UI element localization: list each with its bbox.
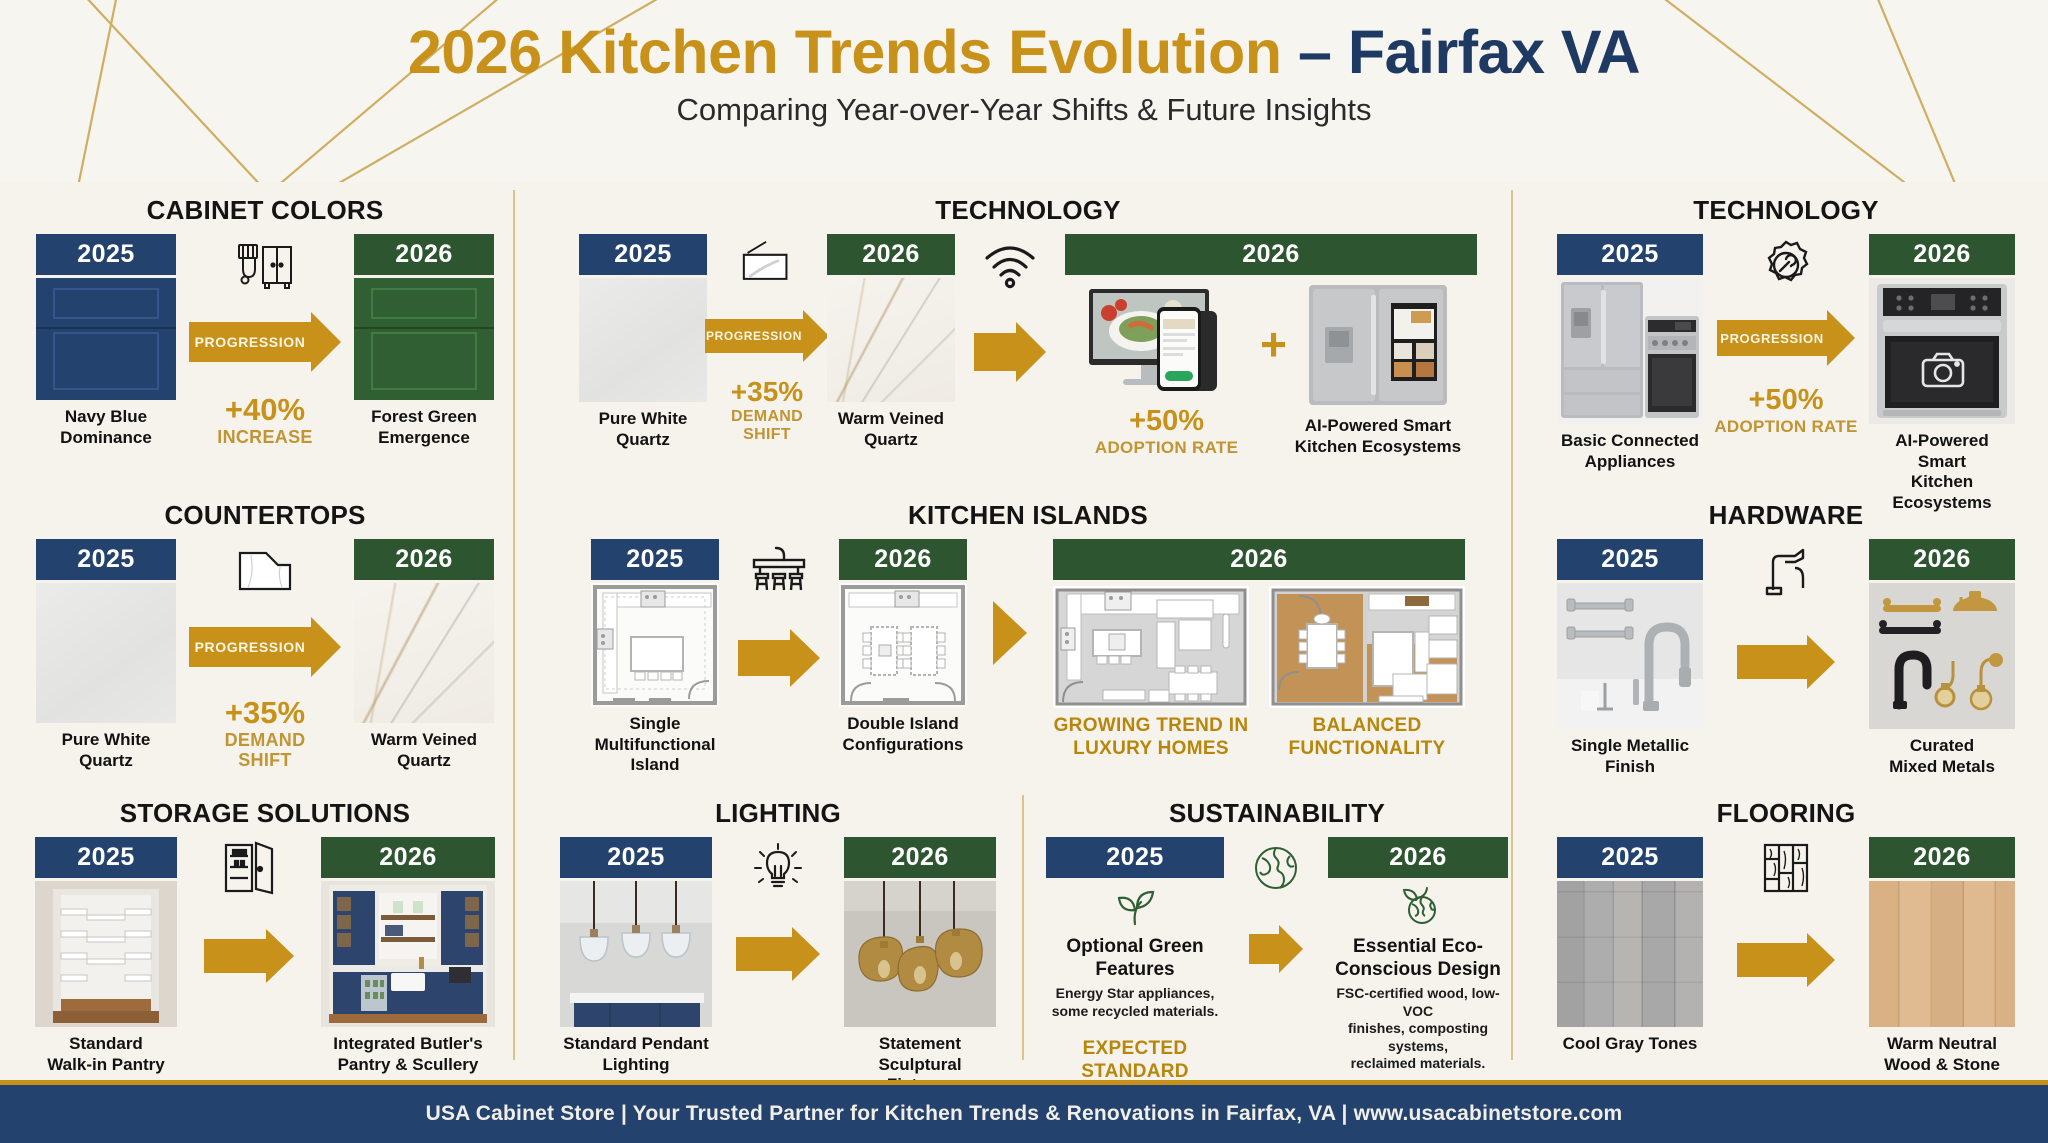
section-hardware: HARDWARE 2025 [1546,500,2026,777]
year-badge-2026: 2026 [1869,234,2015,275]
paintbrush-cabinet-icon [235,234,295,296]
tech-center-wifi-arrow [955,234,1065,382]
countertop-slab-icon [738,234,796,296]
section-technology-right: TECHNOLOGY 2025 [1546,195,2026,514]
island-2025-card: 2025 Single Multifu [591,539,719,776]
section-storage-solutions: STORAGE SOLUTIONS 2025 [30,798,500,1075]
year-badge-2026: 2026 [321,837,495,878]
section-title-countertops: COUNTERTOPS [30,500,500,531]
year-badge-2026: 2026 [1065,234,1477,275]
progression-label: PROGRESSION [195,334,306,350]
countertop-progression-group: PROGRESSION +35% DEMAND SHIFT [176,539,354,770]
caption-navy-blue: Navy Blue Dominance [60,407,152,448]
year-badge-2025: 2025 [36,234,176,275]
swatch-pure-white-quartz [36,583,176,723]
flooring-2025-card: 2025 Cool Gray Tones [1557,837,1703,1055]
heading-essential-eco: Essential Eco- Conscious Design [1335,935,1501,981]
section-title-flooring: FLOORING [1546,798,2026,829]
leaf-globe-icon [1396,886,1440,931]
globe-icon [1252,837,1300,899]
cabinet-2025-card: 2025 Navy Blue Dominance [36,234,176,448]
column-divider-left [513,190,515,1060]
year-badge-2026: 2026 [827,234,955,275]
island-stools-icon [748,539,810,601]
faucet-icon [1759,539,1813,601]
countertop-2025-card: 2025 Pure White Quartz [36,539,176,771]
image-curated-mixed-metals [1869,583,2015,729]
storage-2026-card: 2026 [321,837,495,1075]
progression-arrow-countertops: PROGRESSION [189,617,341,677]
year-badge-2025: 2025 [560,837,712,878]
progression-arrow-tech-1: PROGRESSION [705,310,829,362]
caption-warm-neutral-wood: Warm Neutral Wood & Stone [1884,1034,2000,1075]
caption-standard-pendant: Standard Pendant Lighting [563,1034,708,1075]
tech-center-2026-card: 2026 [1065,234,1477,457]
caption-butlers-pantry: Integrated Butler's Pantry & Scullery [333,1034,483,1075]
arrow-island-1 [738,629,820,687]
arrow-hardware [1737,635,1835,689]
tag-expected-standard: EXPECTED STANDARD [1081,1038,1189,1084]
stat-label-cabinet: INCREASE [217,427,312,447]
progression-label: PROGRESSION [195,639,306,655]
lighting-2025-card: 2025 [560,837,712,1075]
floorplan-single-island [591,583,719,707]
section-title-lighting: LIGHTING [548,798,1008,829]
plus-sign: + [1260,321,1287,367]
year-badge-2025: 2025 [1557,234,1703,275]
year-badge-2025: 2025 [1557,837,1703,878]
island-2026-card: 2026 [839,539,967,755]
progression-label: PROGRESSION [1720,331,1823,346]
caption-single-island: Single Multifunctional Island [595,714,716,776]
caption-cool-gray-tones: Cool Gray Tones [1563,1034,1698,1055]
body-essential-eco: FSC-certified wood, low-VOC finishes, co… [1328,985,1508,1073]
image-basic-appliances [1557,278,1703,424]
year-badge-2026: 2026 [1869,837,2015,878]
tech-center-progression-1: PROGRESSION +35% DEMAND SHIFT [707,234,827,444]
section-kitchen-islands: KITCHEN ISLANDS 2025 [548,500,1508,776]
swatch-forest-green-cabinet [354,278,494,400]
hardware-arrow-group [1703,539,1869,689]
year-badge-2026: 2026 [354,234,494,275]
caption-forest-green: Forest Green Emergence [371,407,477,448]
footer-bar: USA Cabinet Store | Your Trusted Partner… [0,1080,2048,1143]
cabinet-2026-card: 2026 Forest Green Emergence [354,234,494,448]
swatch-warm-wood-flooring [1869,881,2015,1027]
section-title-storage-solutions: STORAGE SOLUTIONS [30,798,500,829]
cabinet-progression-group: PROGRESSION +40% INCREASE [176,234,354,447]
caption-warm-veined-quartz: Warm Veined Quartz [838,409,944,450]
year-badge-2025: 2025 [36,539,176,580]
swatch-pure-white-quartz [579,278,707,402]
year-badge-2025: 2025 [35,837,177,878]
tech-center-2025-card: 2025 Pure White Quartz [579,234,707,450]
stat-cabinet: +40% INCREASE [217,394,312,447]
sustainability-2025-card: 2025 Optional Green Features Energy Star… [1046,837,1224,1084]
tech-right-progression-group: PROGRESSION +50% ADOPTION RATE [1703,234,1869,436]
page-subtitle: Comparing Year-over-Year Shifts & Future… [0,92,2048,128]
year-badge-2025: 2025 [591,539,719,580]
stat-label-countertops: DEMAND SHIFT [225,730,306,770]
stat-label-tech-1: DEMAND SHIFT [707,408,827,444]
section-sustainability: SUSTAINABILITY 2025 Optional Green Featu… [1046,798,1508,1126]
lighting-arrow-group [712,837,844,981]
image-walkin-pantry [35,881,177,1027]
section-lighting: LIGHTING 2025 [548,798,1008,1096]
swatch-navy-cabinet [36,278,176,400]
body-optional-green: Energy Star appliances, some recycled ma… [1052,985,1219,1020]
arrow-island-2 [993,601,1027,665]
caption-balanced-functionality: BALANCED FUNCTIONALITY [1289,715,1446,761]
arrow-storage [204,929,294,983]
section-title-technology-right: TECHNOLOGY [1546,195,2026,226]
pantry-door-icon [220,837,278,899]
section-countertops: COUNTERTOPS 2025 Pure White Quartz PROGR… [30,500,500,771]
page-title-dash: – [1298,18,1348,86]
image-smart-oven [1869,278,2015,424]
gear-wrench-icon [1758,234,1814,296]
caption-curated-mixed-metals: Curated Mixed Metals [1889,736,1995,777]
caption-ai-kitchen-ecosystems: AI-Powered Smart Kitchen Ecosystems [1295,416,1461,457]
section-cabinet-colors: CABINET COLORS 2025 Navy Blue Dominance [30,195,500,448]
section-title-sustainability: SUSTAINABILITY [1046,798,1508,829]
progression-label: PROGRESSION [706,329,802,343]
caption-single-metallic: Single Metallic Finish [1571,736,1689,777]
year-badge-2026: 2026 [354,539,494,580]
stat-countertops: +35% DEMAND SHIFT [225,697,306,770]
year-badge-2026: 2026 [1869,539,2015,580]
heading-optional-green: Optional Green Features [1066,935,1203,981]
stat-number-tech-2: +50% [1095,407,1238,436]
stat-label-tech-2: ADOPTION RATE [1095,438,1238,457]
island-luxury-card: 2026 [1053,539,1465,761]
page-title-navy: Fairfax VA [1348,18,1640,86]
image-standard-pendant [560,881,712,1027]
stat-label-tech-right: ADOPTION RATE [1714,417,1857,436]
swatch-cool-gray-flooring [1557,881,1703,1027]
stat-number-tech-1: +35% [707,378,827,406]
arrow-lighting [736,927,820,981]
year-badge-2025: 2025 [1046,837,1224,878]
swatch-warm-veined-quartz [827,278,955,402]
year-badge-2026: 2026 [1053,539,1465,580]
countertop-2026-card: 2026 Warm Veined Quartz [354,539,494,771]
storage-arrow-group [177,837,321,983]
tech-right-2025-card: 2025 [1557,234,1703,472]
storage-2025-card: 2025 St [35,837,177,1075]
section-technology-center: TECHNOLOGY 2025 Pure White Quartz PROGRE… [548,195,1508,457]
stat-number-tech-right: +50% [1714,386,1857,415]
progression-arrow-cabinet: PROGRESSION [189,312,341,372]
caption-double-island: Double Island Configurations [843,714,964,755]
section-title-cabinet-colors: CABINET COLORS [30,195,500,226]
countertop-slab-icon [234,539,296,601]
flooring-2026-card: 2026 Warm Neutral Wood & Stone [1869,837,2015,1075]
year-badge-2025: 2025 [579,234,707,275]
column-divider-mid [1022,795,1024,1060]
section-title-technology-center: TECHNOLOGY [548,195,1508,226]
arrow-flooring [1737,933,1835,987]
page-title-gold: 2026 Kitchen Trends Evolution [408,18,1298,86]
stat-number-countertops: +35% [225,697,306,728]
wifi-icon [981,234,1039,296]
arrow-tech-center [974,322,1046,382]
flooring-arrow-group [1703,837,1869,987]
progression-arrow-tech-right: PROGRESSION [1717,310,1855,366]
caption-basic-appliances: Basic Connected Appliances [1561,431,1699,472]
stat-tech-center-2: +50% ADOPTION RATE [1095,407,1238,457]
leaf-icon [1113,886,1157,931]
image-single-metallic-finish [1557,583,1703,729]
caption-standard-pantry: Standard Walk-in Pantry [47,1034,164,1075]
stat-tech-center-1: +35% DEMAND SHIFT [707,378,827,444]
section-title-hardware: HARDWARE [1546,500,2026,531]
year-badge-2025: 2025 [1557,539,1703,580]
tech-center-mid-card: 2026 Warm Veined Quartz [827,234,955,450]
tech-right-2026-card: 2026 [1869,234,2015,514]
lighting-2026-card: 2026 Statement Sculptu [844,837,996,1096]
footer-text: USA Cabinet Store | Your Trusted Partner… [426,1102,1623,1126]
year-badge-2026: 2026 [844,837,996,878]
caption-pure-white-quartz: Pure White Quartz [599,409,688,450]
stat-tech-right: +50% ADOPTION RATE [1714,386,1857,436]
image-butlers-pantry [321,881,495,1027]
floorplan-double-island [839,583,967,707]
caption-pure-white-quartz: Pure White Quartz [62,730,151,771]
island-arrow-group-1 [719,539,839,687]
island-arrow-group-2 [967,539,1053,665]
column-divider-right [1511,190,1513,1060]
year-badge-2026: 2026 [839,539,967,580]
section-flooring: FLOORING 2025 Cool Gray Tones [1546,798,2026,1075]
sustainability-arrow-group [1224,837,1328,973]
arrow-sustainability [1249,925,1303,973]
stat-number-cabinet: +40% [217,394,312,425]
header: 2026 Kitchen Trends Evolution – Fairfax … [0,0,2048,128]
hardware-2026-card: 2026 [1869,539,2015,777]
page-title: 2026 Kitchen Trends Evolution – Fairfax … [0,20,2048,84]
caption-warm-veined-quartz: Warm Veined Quartz [371,730,477,771]
image-sculptural-fixtures [844,881,996,1027]
wood-planks-icon [1759,837,1813,899]
lightbulb-icon [752,837,804,899]
section-title-kitchen-islands: KITCHEN ISLANDS [548,500,1508,531]
caption-growing-trend-luxury: GROWING TREND IN LUXURY HOMES [1054,715,1249,761]
swatch-warm-veined-quartz [354,583,494,723]
year-badge-2026: 2026 [1328,837,1508,878]
hardware-2025-card: 2025 Single Metallic Finis [1557,539,1703,777]
